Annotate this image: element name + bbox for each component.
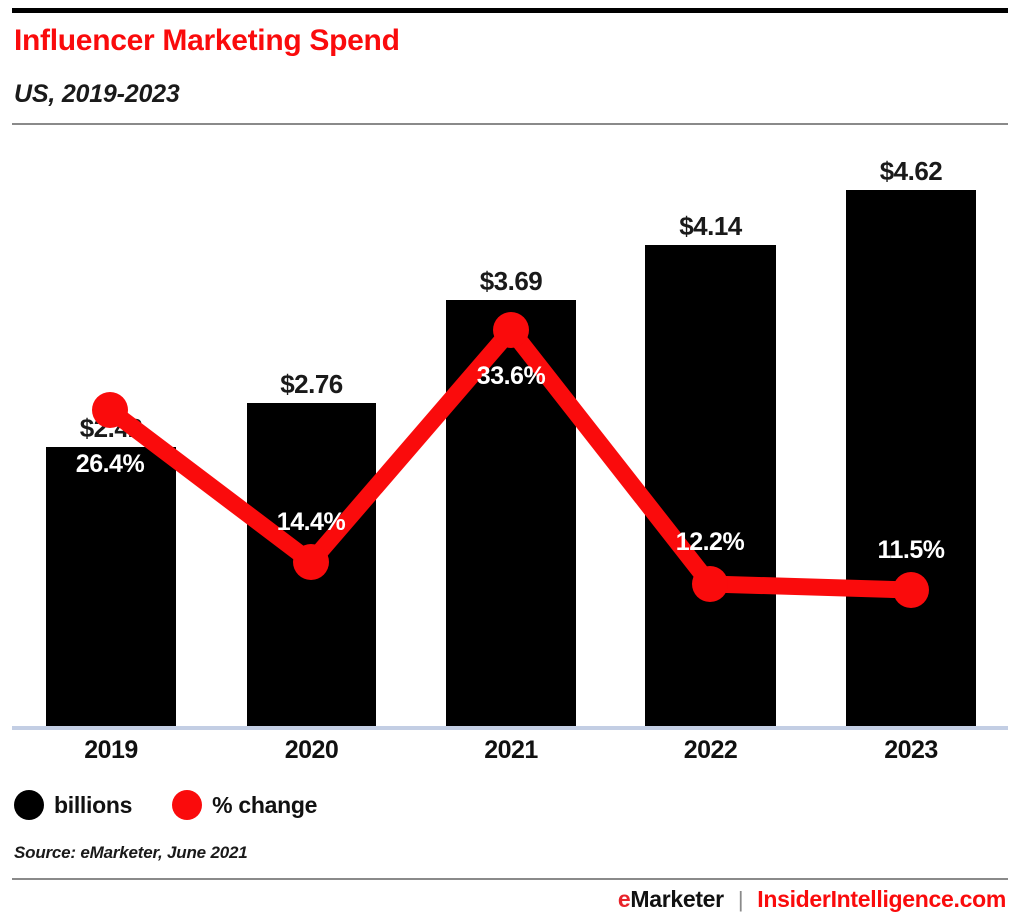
x-label-2021: 2021 <box>446 736 576 765</box>
x-label-2022: 2022 <box>645 736 776 765</box>
percent-change-line <box>0 130 1020 730</box>
top-rule <box>12 8 1008 13</box>
page-title: Influencer Marketing Spend <box>14 24 400 58</box>
source-note: Source: eMarketer, June 2021 <box>14 843 247 863</box>
pct-label-2019: 26.4% <box>40 450 180 479</box>
chart-page: Influencer Marketing Spend US, 2019-2023… <box>0 0 1020 920</box>
header-divider <box>12 123 1008 125</box>
x-label-2019: 2019 <box>46 736 176 765</box>
pct-label-2022: 12.2% <box>640 528 780 557</box>
legend-label-percent-change: % change <box>212 792 317 819</box>
footer-brand: eMarketer | InsiderIntelligence.com <box>618 886 1006 913</box>
plot-area: $2.42 $2.76 $3.69 $4.14 $4.62 26.4% 14.4… <box>0 130 1020 730</box>
legend-dot-black-circle-icon <box>14 790 44 820</box>
legend-dot-red-circle-icon <box>172 790 202 820</box>
footer-divider <box>12 878 1008 880</box>
x-axis-labels: 2019 2020 2021 2022 2023 <box>0 736 1020 770</box>
brand-emarketer-rest: Marketer <box>630 886 724 912</box>
chart-legend: billions % change <box>14 790 317 820</box>
brand-emarketer-e: e <box>618 886 631 912</box>
x-label-2023: 2023 <box>846 736 976 765</box>
legend-item-billions: billions <box>14 790 132 820</box>
footer-site-url: InsiderIntelligence.com <box>757 886 1006 913</box>
pct-label-2020: 14.4% <box>241 508 381 537</box>
page-subtitle: US, 2019-2023 <box>14 80 180 109</box>
pct-label-2023: 11.5% <box>841 536 981 565</box>
x-label-2020: 2020 <box>247 736 376 765</box>
legend-item-percent-change: % change <box>172 790 317 820</box>
footer-separator: | <box>738 887 743 913</box>
brand-emarketer: eMarketer <box>618 886 724 913</box>
pct-label-2021: 33.6% <box>441 362 581 391</box>
legend-label-billions: billions <box>54 792 132 819</box>
